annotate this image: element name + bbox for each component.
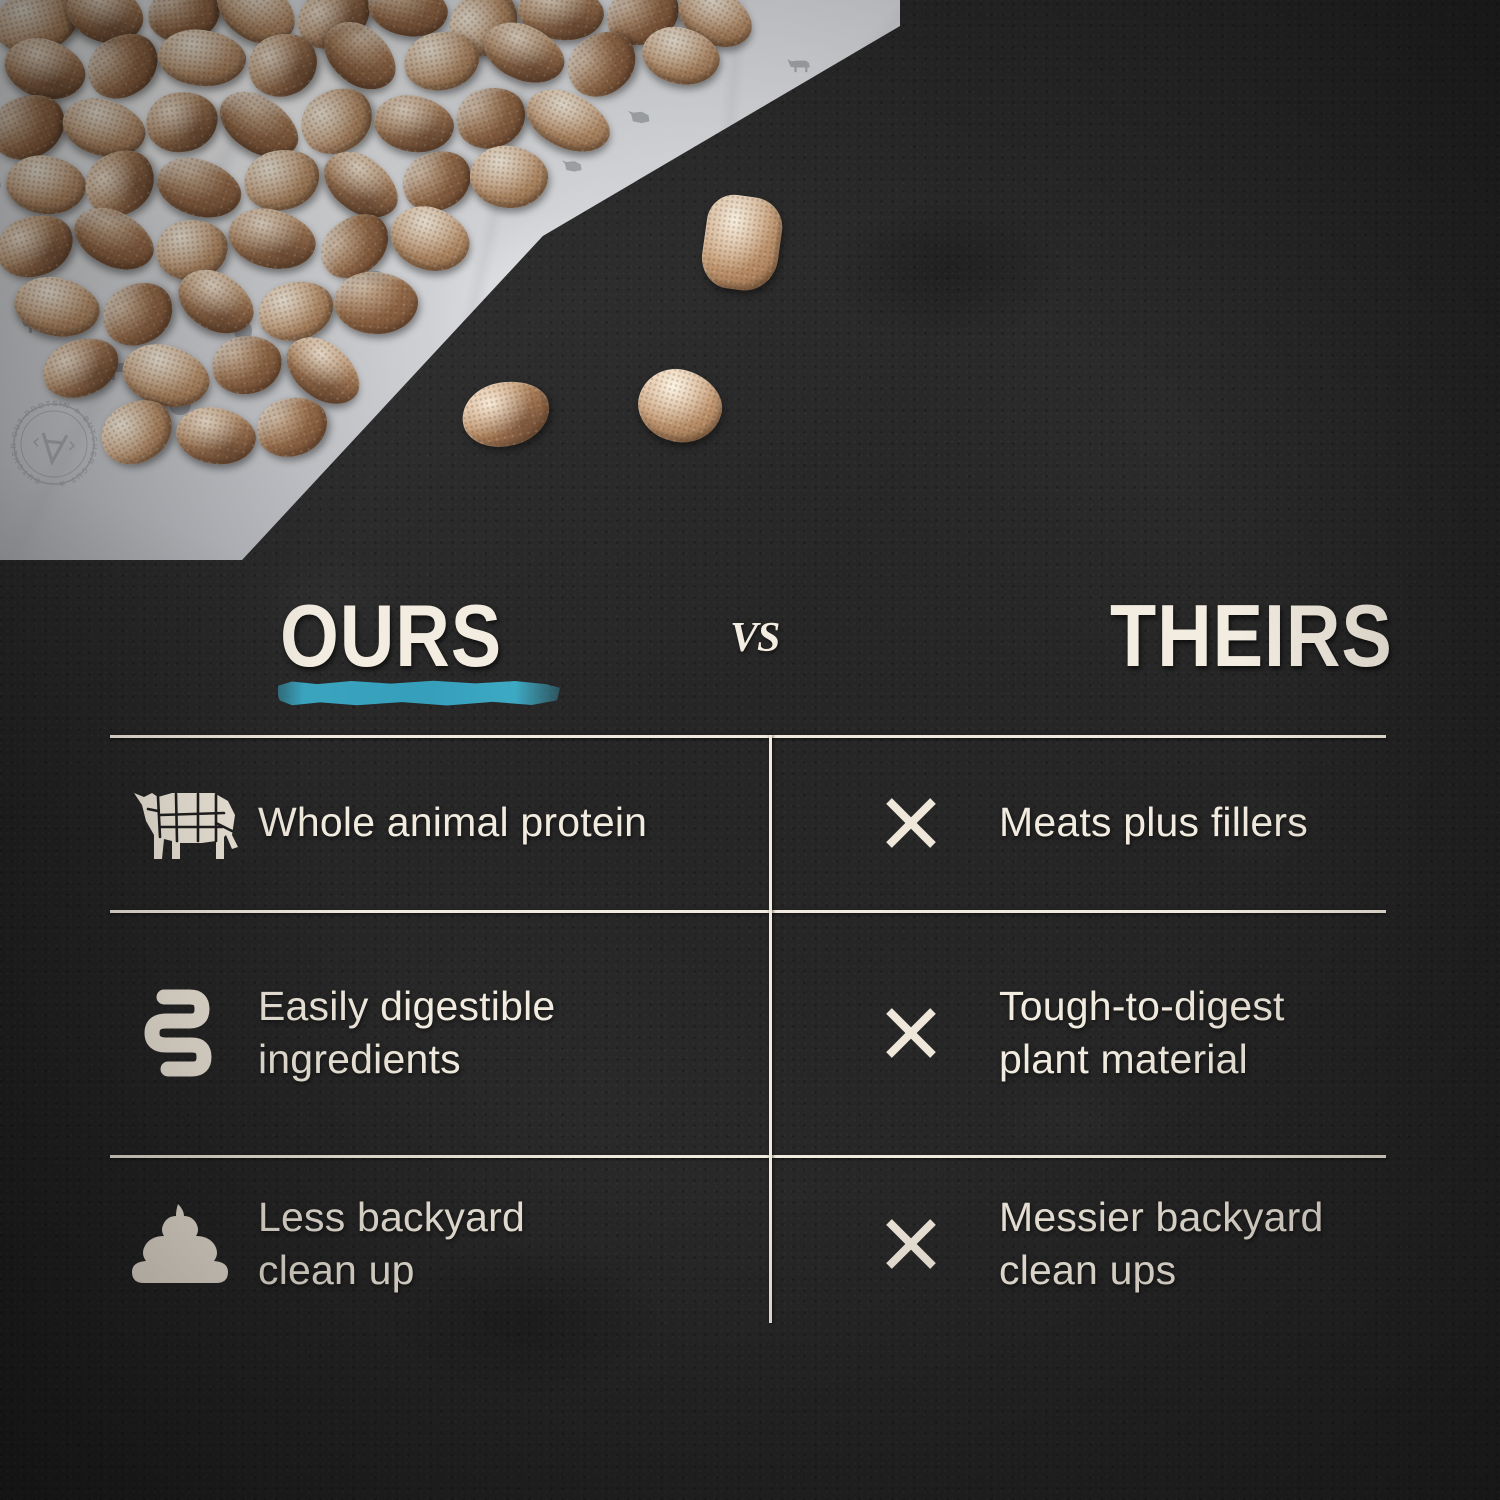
vignette-overlay: [0, 0, 1500, 1500]
infographic-canvas: BUTCHER CUT PROTEIN ★ BUTCHER CUT ★: [0, 0, 1500, 1500]
